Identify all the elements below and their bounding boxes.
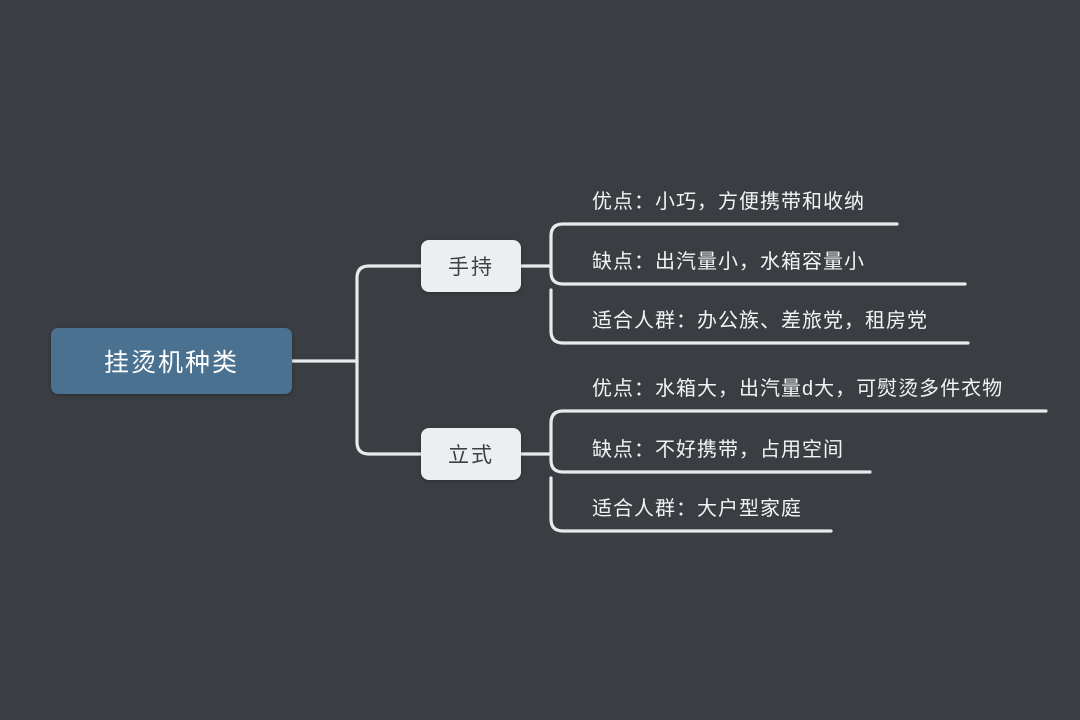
leaf-upright-pros[interactable]: 优点：水箱大，出汽量d大，可熨烫多件衣物 (592, 379, 1003, 399)
branch-node-upright[interactable]: 立式 (421, 428, 521, 480)
root-node[interactable]: 挂烫机种类 (51, 328, 292, 394)
leaf-handheld-audience[interactable]: 适合人群：办公族、差旅党，租房党 (592, 311, 928, 331)
branch-node-handheld-label: 手持 (448, 251, 494, 281)
wire-trunk-to-upright (357, 361, 421, 454)
leaf-upright-audience[interactable]: 适合人群：大户型家庭 (592, 499, 802, 519)
branch-node-handheld[interactable]: 手持 (421, 240, 521, 292)
leaf-upright-cons[interactable]: 缺点：不好携带，占用空间 (592, 440, 844, 460)
mindmap-canvas: 挂烫机种类 手持 立式 优点：小巧，方便携带和收纳 缺点：出汽量小，水箱容量小 … (0, 0, 1080, 720)
leaf-handheld-pros[interactable]: 优点：小巧，方便携带和收纳 (592, 192, 865, 212)
wire-trunk-to-handheld (357, 266, 421, 361)
branch-node-upright-label: 立式 (448, 439, 494, 469)
leaf-handheld-cons[interactable]: 缺点：出汽量小，水箱容量小 (592, 252, 865, 272)
root-node-label: 挂烫机种类 (104, 343, 239, 379)
